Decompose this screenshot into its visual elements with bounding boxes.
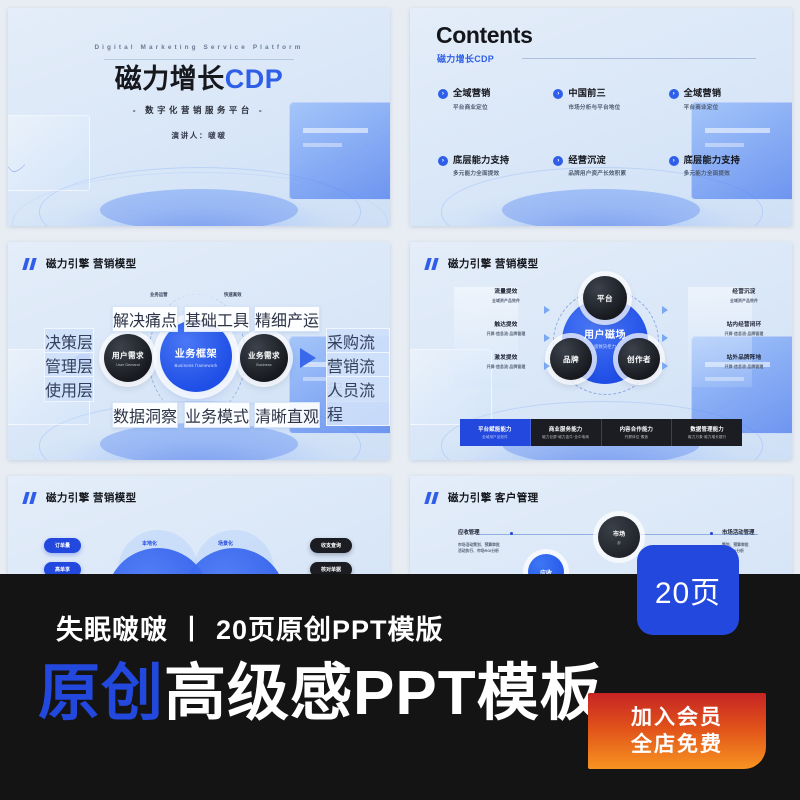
node-title: 品牌 [563,354,579,365]
contents-subtitle: 磁力增长CDP [437,52,494,65]
contents-item[interactable]: › 底层能力支持多元能力全面提效 [438,155,547,178]
chevron-right-icon: › [669,89,679,99]
contents-item-title: 经营沉淀 [568,155,626,167]
feature-desc: 开屏·信息流·品牌管理 [698,331,790,337]
inner-label: 基础工具 [184,306,250,332]
capability-desc: 磁力万象·磁力增长银行 [688,435,726,440]
slide1-title: 磁力增长CDP [8,66,390,93]
feature-item: 经营沉淀 全域资产品效件 [698,287,790,304]
right-pill[interactable]: 收支查询 [310,538,352,553]
left-pill: 使用层 [44,376,94,402]
contents-item-desc: 平台商业定位 [684,103,722,111]
capability-title: 平台赋能能力 [478,425,512,433]
slide4-heading-text: 磁力引擎 营销模型 [448,256,539,271]
node-platform[interactable]: 平台 [583,276,627,320]
capability-cell[interactable]: 商业服务能力 磁力巨屏·磁力金牛·全中电商 [531,419,602,446]
slide4-heading: 磁力引擎 营销模型 [426,256,539,271]
promo-highlight: 原创 [38,659,164,728]
feature-title: 站外品牌阵地 [698,353,790,361]
slide1-subtitle: - 数字化营销服务平台 - [8,104,390,116]
contents-item-desc: 平台商业定位 [453,103,491,111]
promo-desc: 20页原创PPT模版 [216,615,444,645]
capability-desc: 磁力巨屏·磁力金牛·全中电商 [542,435,589,440]
node-title: 平台 [597,293,613,304]
slide3-heading-text: 磁力引擎 营销模型 [46,256,137,271]
slide3-heading: 磁力引擎 营销模型 [24,256,137,271]
left-feature-list: 流量提效 全域资产品效件 触达提效 开屏·信息流·品牌管理 激发提效 开屏·信息… [460,287,552,386]
feature-title: 经营沉淀 [698,287,790,295]
feature-title: 站内经营闭环 [698,320,790,328]
slide5-heading-text: 磁力引擎 营销模型 [46,490,137,505]
right-pill: 人员流程 [326,376,390,426]
connector-dot [710,532,713,535]
arrow-right-icon [300,348,316,368]
node-title: 创作者 [627,354,651,365]
contents-item-desc: 市场分析与平台地位 [568,103,620,111]
chevron-right-icon: › [438,89,448,99]
arrow-icon [662,306,668,314]
feature-desc: 全域资产品效件 [460,298,552,304]
node-title: 业务需求 [248,350,280,361]
feature-title: 触达提效 [460,320,552,328]
node-title: 用户需求 [112,350,144,361]
membership-line-2: 全店免费 [631,732,723,757]
slide1-title-cn: 磁力增长 [115,64,225,94]
contents-item-desc: 品牌用户资产长效积累 [568,169,626,177]
bottom-label: 业务模式 [184,402,250,428]
bottom-label: 清晰直观 [254,402,320,428]
capability-cell[interactable]: 内容合作能力 开屏体位·素造 [602,419,673,446]
slide-thumbnail-title[interactable]: Digital Marketing Service Platform 磁力增长C… [8,8,390,226]
feature-item: 触达提效 开屏·信息流·品牌管理 [460,320,552,337]
left-pill: 管理层 [44,352,94,378]
top-label: 快速高效 [224,292,242,298]
node-brand[interactable]: 品牌 [550,338,592,380]
screen-panel-decor [289,102,390,200]
slide1-title-en: CDP [225,64,284,94]
feature-title: 流量提效 [460,287,552,295]
wave-graphic [8,161,25,174]
contents-divider [522,58,756,59]
feature-item: 流量提效 全域资产品效件 [460,287,552,304]
promo-separator: 丨 [178,608,206,647]
contents-item-title: 全域营销 [684,88,722,100]
chart-panel-decor [8,115,90,191]
contents-item[interactable]: › 中国前三市场分析与平台地位 [553,88,662,111]
chevron-right-icon: › [553,89,563,99]
template-preview-page: Digital Marketing Service Platform 磁力增长C… [0,0,800,800]
node-market[interactable]: 市场 部 [598,516,640,558]
bottom-label: 数据洞察 [112,402,178,428]
left-section-desc: 市场活动策划、预算审批 活动执行、市场ROI分析 [458,542,500,555]
promo-line-1: 失眠啵啵丨20页原创PPT模版 [56,608,444,647]
slide5-heading: 磁力引擎 营销模型 [24,490,137,505]
arrow-icon [662,362,668,370]
hub-title: 业务框架 [175,345,217,360]
left-pill[interactable]: 订单量 [44,538,81,553]
slide-thumbnail-marketing-model-2[interactable]: 磁力引擎 营销模型 用户磁场 极致货柜力 平台 品牌 创作者 流量提效 [410,242,792,460]
slide1-speaker: 演讲人：啵啵 [8,130,390,141]
feature-item: 站外品牌阵地 开屏·信息流·品牌管理 [698,353,790,370]
double-bar-icon [426,258,442,270]
contents-item[interactable]: › 全域营销平台商业定位 [438,88,547,111]
feature-title: 激发提效 [460,353,552,361]
membership-badge[interactable]: 加入会员 全店免费 [588,693,766,769]
page-count-label: 20页 [655,568,721,612]
promo-line-2: 原创高级感PPT模板 [38,658,603,729]
contents-item-title: 底层能力支持 [684,155,740,167]
connector-dot [510,532,513,535]
slide1-eyebrow: Digital Marketing Service Platform [8,44,390,51]
arrow-icon [662,334,668,342]
arc-label: 场景化 [218,540,233,547]
inner-label: 解决痛点 [112,306,178,332]
node-subtitle: 部 [617,540,620,545]
connector-line [476,534,598,535]
slide-grid: Digital Marketing Service Platform 磁力增长C… [0,0,800,600]
node-business-demand[interactable]: 业务需求 Business [240,334,288,382]
node-title: 市场 [613,529,625,538]
contents-item-desc: 多元能力全面提效 [684,169,740,177]
capability-title: 数据管理能力 [690,425,724,433]
capability-cell[interactable]: 平台赋能能力 全域用户品效件 [460,419,531,446]
contents-item[interactable]: › 全域营销平台商业定位 [669,88,778,111]
contents-item-list: › 全域营销平台商业定位 › 中国前三市场分析与平台地位 › 全域营销平台商业定… [438,88,778,177]
promo-author: 失眠啵啵 [56,615,168,645]
promo-rest: 高级感PPT模板 [164,659,603,728]
slide1-divider [104,59,294,60]
left-section-title: 应收管理 [458,528,480,536]
slide-thumbnail-marketing-model-1[interactable]: 磁力引擎 营销模型 用户需求 User Demand 业务需求 Business… [8,242,390,460]
contents-item[interactable]: › 经营沉淀品牌用户资产长效积累 [553,155,662,178]
contents-title: Contents [436,22,532,49]
chevron-right-icon: › [553,156,563,166]
double-bar-icon [426,492,442,504]
contents-item-desc: 多元能力全面提效 [453,169,509,177]
contents-item-title: 全域营销 [453,88,491,100]
feature-desc: 开屏·信息流·品牌管理 [460,364,552,370]
capability-title: 内容合作能力 [620,425,654,433]
capability-desc: 全域用户品效件 [482,435,508,440]
feature-desc: 全域资产品效件 [698,298,790,304]
chevron-right-icon: › [438,156,448,166]
node-subtitle: User Demand [116,363,139,367]
double-bar-icon [24,492,40,504]
right-feature-list: 经营沉淀 全域资产品效件 站内经营闭环 开屏·信息流·品牌管理 站外品牌阵地 开… [698,287,790,386]
feature-desc: 开屏·信息流·品牌管理 [460,331,552,337]
capability-bar: 平台赋能能力 全域用户品效件 商业服务能力 磁力巨屏·磁力金牛·全中电商 内容合… [460,419,742,446]
feature-desc: 开屏·信息流·品牌管理 [698,364,790,370]
node-creator[interactable]: 创作者 [618,338,660,380]
capability-desc: 开屏体位·素造 [625,435,648,440]
contents-item[interactable]: › 底层能力支持多元能力全面提效 [669,155,778,178]
slide-thumbnail-contents[interactable]: Contents 磁力增长CDP › 全域营销平台商业定位 › 中国前三市场分析… [410,8,792,226]
node-user-demand[interactable]: 用户需求 User Demand [104,334,152,382]
inner-label: 精细产运 [254,306,320,332]
chevron-right-icon: › [669,156,679,166]
capability-title: 商业服务能力 [549,425,583,433]
feature-item: 站内经营闭环 开屏·信息流·品牌管理 [698,320,790,337]
capability-cell[interactable]: 数据管理能力 磁力万象·磁力增长银行 [672,419,742,446]
right-section-title: 市场活动管理 [722,528,754,536]
hub-subtitle: Business framework [174,363,217,368]
slide6-heading: 磁力引擎 客户管理 [426,490,539,505]
left-pill: 决策层 [44,328,94,354]
feature-item: 激发提效 开屏·信息流·品牌管理 [460,353,552,370]
contents-item-title: 底层能力支持 [453,155,509,167]
node-subtitle: Business [256,363,271,367]
top-label: 业务运营 [150,292,168,298]
slide6-heading-text: 磁力引擎 客户管理 [448,490,539,505]
membership-line-1: 加入会员 [631,705,723,730]
contents-item-title: 中国前三 [568,88,620,100]
arc-label: 本地化 [142,540,157,547]
double-bar-icon [24,258,40,270]
page-count-badge: 20页 [637,545,739,635]
